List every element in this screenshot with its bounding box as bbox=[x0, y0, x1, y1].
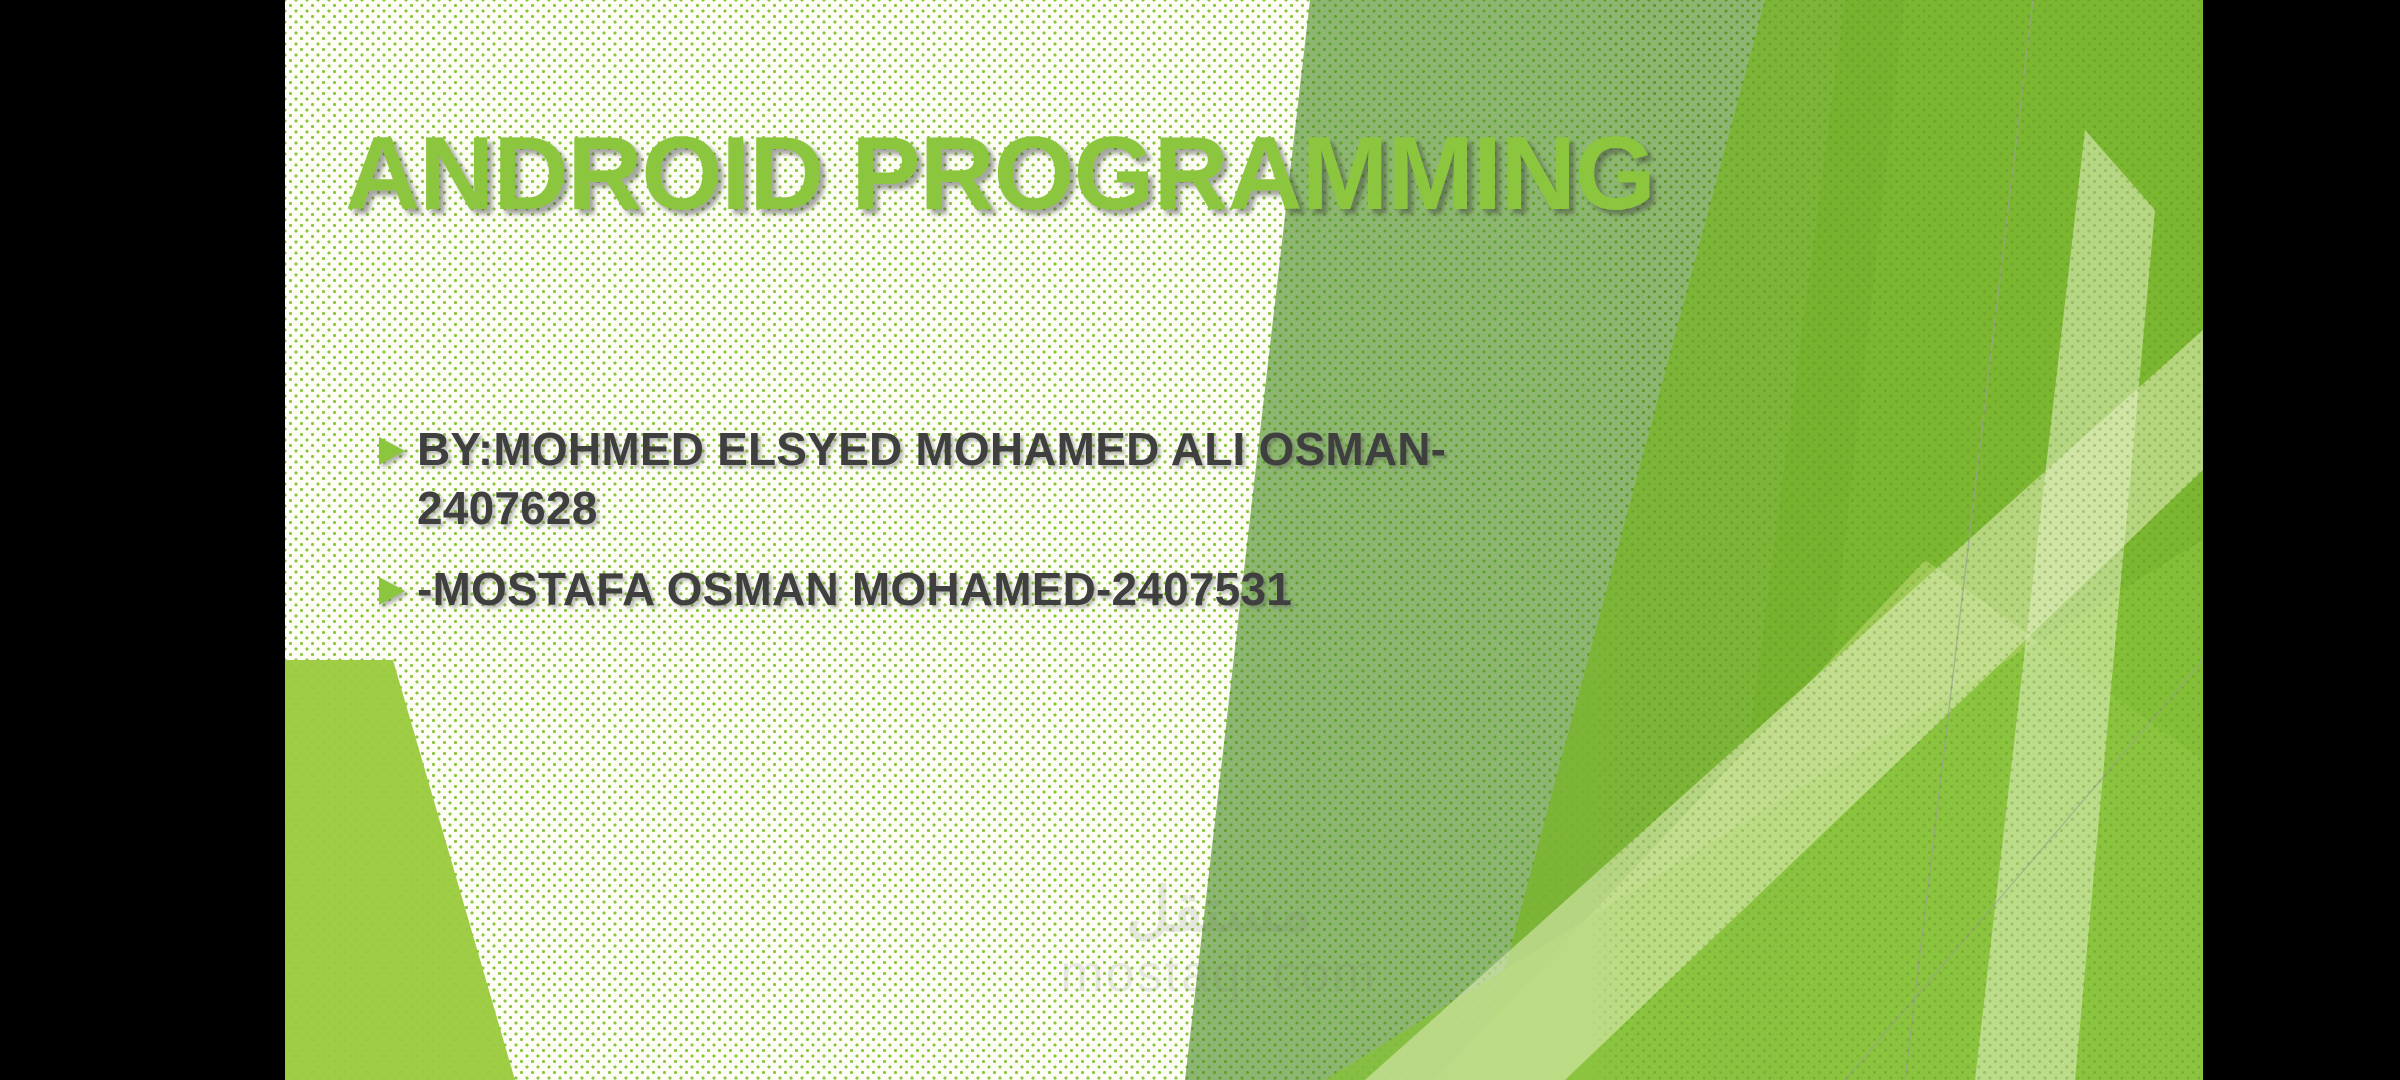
triangle-bullet-icon bbox=[375, 574, 409, 608]
slide-content: ANDROID PROGRAMMING BY:MOHMED ELSYED MOH… bbox=[285, 0, 2203, 1080]
screenshot-stage: مستقل mostaql.com ANDROID PROGRAMMING BY… bbox=[0, 0, 2400, 1080]
presentation-slide: مستقل mostaql.com ANDROID PROGRAMMING BY… bbox=[285, 0, 2203, 1080]
letterbox-left bbox=[0, 0, 285, 1080]
bullet-item-label: BY:MOHMED ELSYED MOHAMED ALI OSMAN-24076… bbox=[417, 420, 1535, 538]
bullet-list: BY:MOHMED ELSYED MOHAMED ALI OSMAN-24076… bbox=[375, 420, 1535, 641]
bullet-item-label: -MOSTAFA OSMAN MOHAMED-2407531 bbox=[417, 560, 1292, 619]
bullet-item: -MOSTAFA OSMAN MOHAMED-2407531 bbox=[375, 560, 1535, 619]
letterbox-right bbox=[2203, 0, 2400, 1080]
triangle-bullet-icon bbox=[375, 434, 409, 468]
slide-title: ANDROID PROGRAMMING bbox=[345, 120, 1705, 229]
bullet-item: BY:MOHMED ELSYED MOHAMED ALI OSMAN-24076… bbox=[375, 420, 1535, 538]
